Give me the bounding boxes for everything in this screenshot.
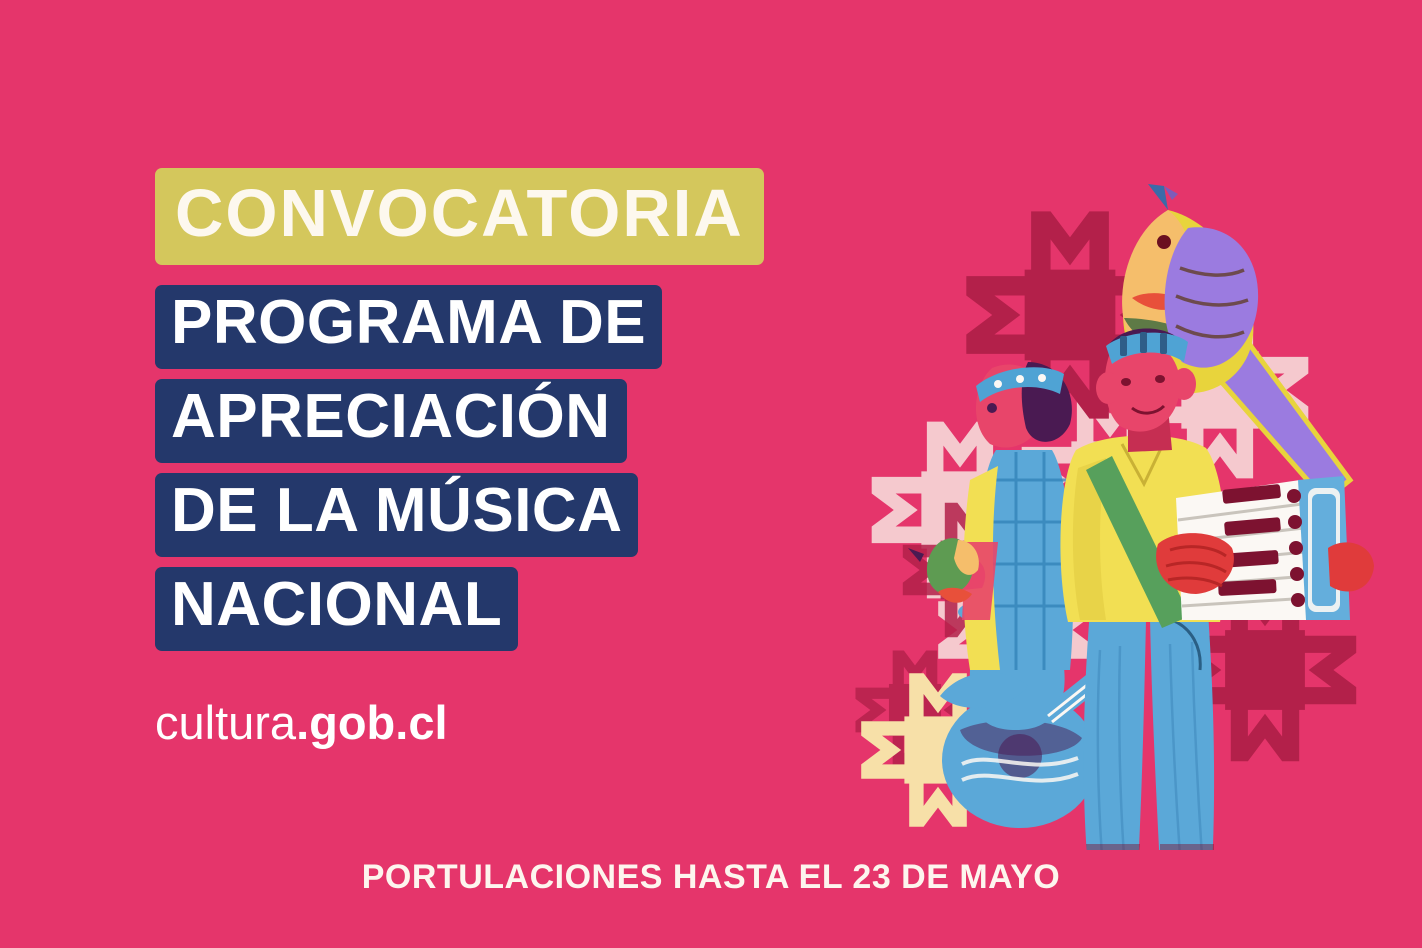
band-programa-de: PROGRAMA DE (155, 285, 662, 369)
band-de-la-musica: DE LA MÚSICA (155, 473, 638, 557)
band-nacional: NACIONAL (155, 567, 518, 651)
band-convocatoria: CONVOCATORIA (155, 168, 764, 265)
illustration-musicians (820, 150, 1380, 850)
deadline-caption: PORTULACIONES HASTA EL 23 DE MAYO (0, 858, 1422, 897)
url-bold-part: .gob.cl (296, 696, 447, 749)
headline-block: CONVOCATORIA PROGRAMA DE APRECIACIÓN DE … (155, 168, 795, 750)
website-url[interactable]: cultura.gob.cl (155, 695, 795, 750)
band-apreciacion: APRECIACIÓN (155, 379, 627, 463)
url-light-part: cultura (155, 696, 296, 749)
poster-canvas: CONVOCATORIA PROGRAMA DE APRECIACIÓN DE … (0, 0, 1422, 948)
